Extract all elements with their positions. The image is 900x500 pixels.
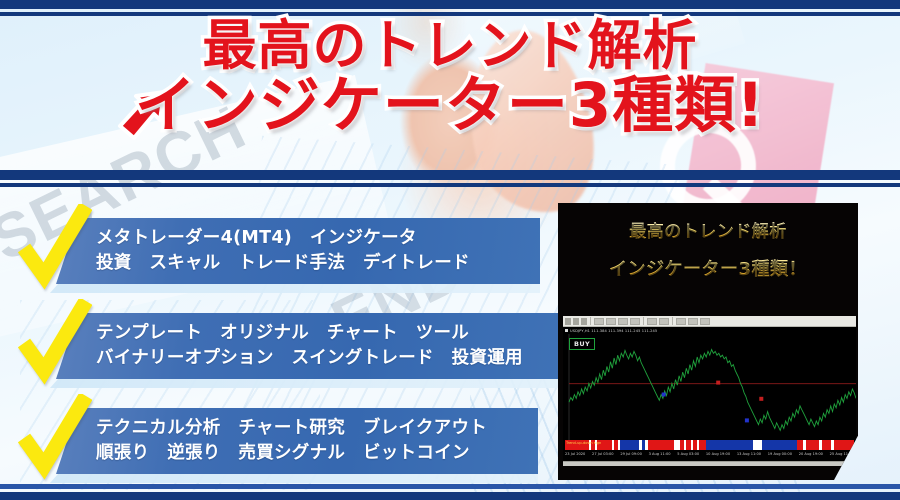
timeframe-m1-button[interactable] bbox=[594, 318, 604, 325]
timeframe-mn-button[interactable] bbox=[700, 318, 710, 325]
timeframe-h1-button[interactable] bbox=[647, 318, 657, 325]
red-arrow-icon bbox=[112, 86, 182, 146]
feature-underline-1 bbox=[50, 284, 540, 293]
date-tick-label: 27 Jul 03:00 bbox=[592, 452, 614, 461]
price-chart bbox=[563, 334, 856, 442]
buy-signal-badge: BUY bbox=[569, 338, 595, 350]
date-tick-label: 20 Aug 19:00 bbox=[799, 452, 823, 461]
histogram-bar bbox=[834, 440, 853, 450]
trend-histogram bbox=[565, 440, 854, 450]
toolbar-separator bbox=[672, 317, 673, 325]
feature-text-2-line-2: バイナリーオプション スイングトレード 投資運用 bbox=[96, 346, 523, 371]
bottom-rule-thick bbox=[0, 492, 900, 500]
timeframe-w1-button[interactable] bbox=[688, 318, 698, 325]
toolbar-separator bbox=[643, 317, 644, 325]
cursor-icon[interactable] bbox=[565, 318, 571, 325]
feature-text-1-line-1: メタトレーダー4(MT4) インジケータ bbox=[96, 226, 470, 251]
middle-rule-thick bbox=[0, 170, 900, 180]
feature-text-2-line-1: テンプレート オリジナル チャート ツール bbox=[96, 321, 523, 346]
date-tick-label: 23 Jul 2020 bbox=[565, 452, 585, 461]
middle-rule-thin bbox=[0, 183, 900, 187]
date-tick-label: 19 Aug 00:00 bbox=[768, 452, 792, 461]
histogram-bar bbox=[706, 440, 754, 450]
chart-preview-panel: 最高のトレンド解析 インジケーター3種類！ bbox=[558, 203, 858, 480]
crosshair-icon[interactable] bbox=[573, 318, 579, 325]
timeframe-m15-button[interactable] bbox=[618, 318, 628, 325]
histogram-bar bbox=[762, 440, 797, 450]
feature-text-1: メタトレーダー4(MT4) インジケータ 投資 スキャル トレード手法 デイトレ… bbox=[96, 226, 470, 276]
symbol-info-text: USDJPY,H1 111.384 111.394 111.245 111.24… bbox=[570, 329, 657, 333]
check-icon bbox=[18, 204, 92, 290]
top-rule-thin bbox=[0, 12, 900, 16]
date-tick-label: 10 Aug 19:00 bbox=[706, 452, 730, 461]
promo-banner: SEARCH TRENDS 最高のトレンド解析 インジケーター3種類! メタトレ… bbox=[0, 0, 900, 500]
panel-title-line-2: インジケーター3種類！ bbox=[558, 255, 858, 281]
date-tick-label: 3 Aug 11:00 bbox=[649, 452, 671, 461]
date-axis: 23 Jul 202027 Jul 03:0029 Jul 09:003 Aug… bbox=[565, 452, 854, 461]
date-tick-label: 13 Aug 11:00 bbox=[737, 452, 761, 461]
timeframe-m5-button[interactable] bbox=[606, 318, 616, 325]
mt4-symbol-bar: USDJPY,H1 111.384 111.394 111.245 111.24… bbox=[563, 327, 856, 334]
feature-underline-2 bbox=[50, 379, 564, 388]
panel-title-line-1: 最高のトレンド解析 bbox=[629, 222, 787, 242]
date-tick-label: 5 Aug 03:00 bbox=[677, 452, 699, 461]
bottom-rule-thin bbox=[0, 484, 900, 489]
feature-text-1-line-2: 投資 スキャル トレード手法 デイトレード bbox=[96, 251, 470, 276]
histogram-bar bbox=[806, 440, 819, 450]
feature-text-3-line-2: 順張り 逆張り 売買シグナル ビットコイン bbox=[96, 441, 487, 466]
feature-underline-3 bbox=[50, 474, 538, 483]
timeframe-h4-button[interactable] bbox=[659, 318, 669, 325]
mt4-chart-window[interactable]: USDJPY,H1 111.384 111.394 111.245 111.24… bbox=[563, 316, 856, 466]
sell-dot bbox=[759, 397, 763, 401]
sell-dot bbox=[716, 381, 720, 385]
panel-title-block: 最高のトレンド解析 インジケーター3種類！ bbox=[558, 217, 858, 281]
trendline-icon[interactable] bbox=[581, 318, 587, 325]
feature-text-3: テクニカル分析 チャート研究 ブレイクアウト 順張り 逆張り 売買シグナル ビッ… bbox=[96, 416, 487, 466]
timeframe-m30-button[interactable] bbox=[630, 318, 640, 325]
histogram-label: Trend-up-down sign bbox=[566, 441, 601, 445]
buy-dot bbox=[662, 393, 666, 397]
buy-dot bbox=[745, 418, 749, 422]
symbol-marker-icon bbox=[565, 329, 568, 332]
check-icon bbox=[18, 299, 92, 385]
toolbar-separator bbox=[590, 317, 591, 325]
top-rule-thick bbox=[0, 0, 900, 9]
mt4-toolbar[interactable] bbox=[563, 316, 856, 327]
histogram-bar bbox=[648, 440, 674, 450]
histogram-bar bbox=[753, 440, 762, 450]
feature-text-3-line-1: テクニカル分析 チャート研究 ブレイクアウト bbox=[96, 416, 487, 441]
histogram-bar bbox=[822, 440, 831, 450]
feature-text-2: テンプレート オリジナル チャート ツール バイナリーオプション スイングトレー… bbox=[96, 321, 523, 371]
histogram-bar bbox=[620, 440, 639, 450]
timeframe-d1-button[interactable] bbox=[676, 318, 686, 325]
horizontal-scrollbar[interactable] bbox=[563, 461, 856, 466]
check-icon bbox=[18, 394, 92, 480]
date-tick-label: 29 Jul 09:00 bbox=[620, 452, 642, 461]
